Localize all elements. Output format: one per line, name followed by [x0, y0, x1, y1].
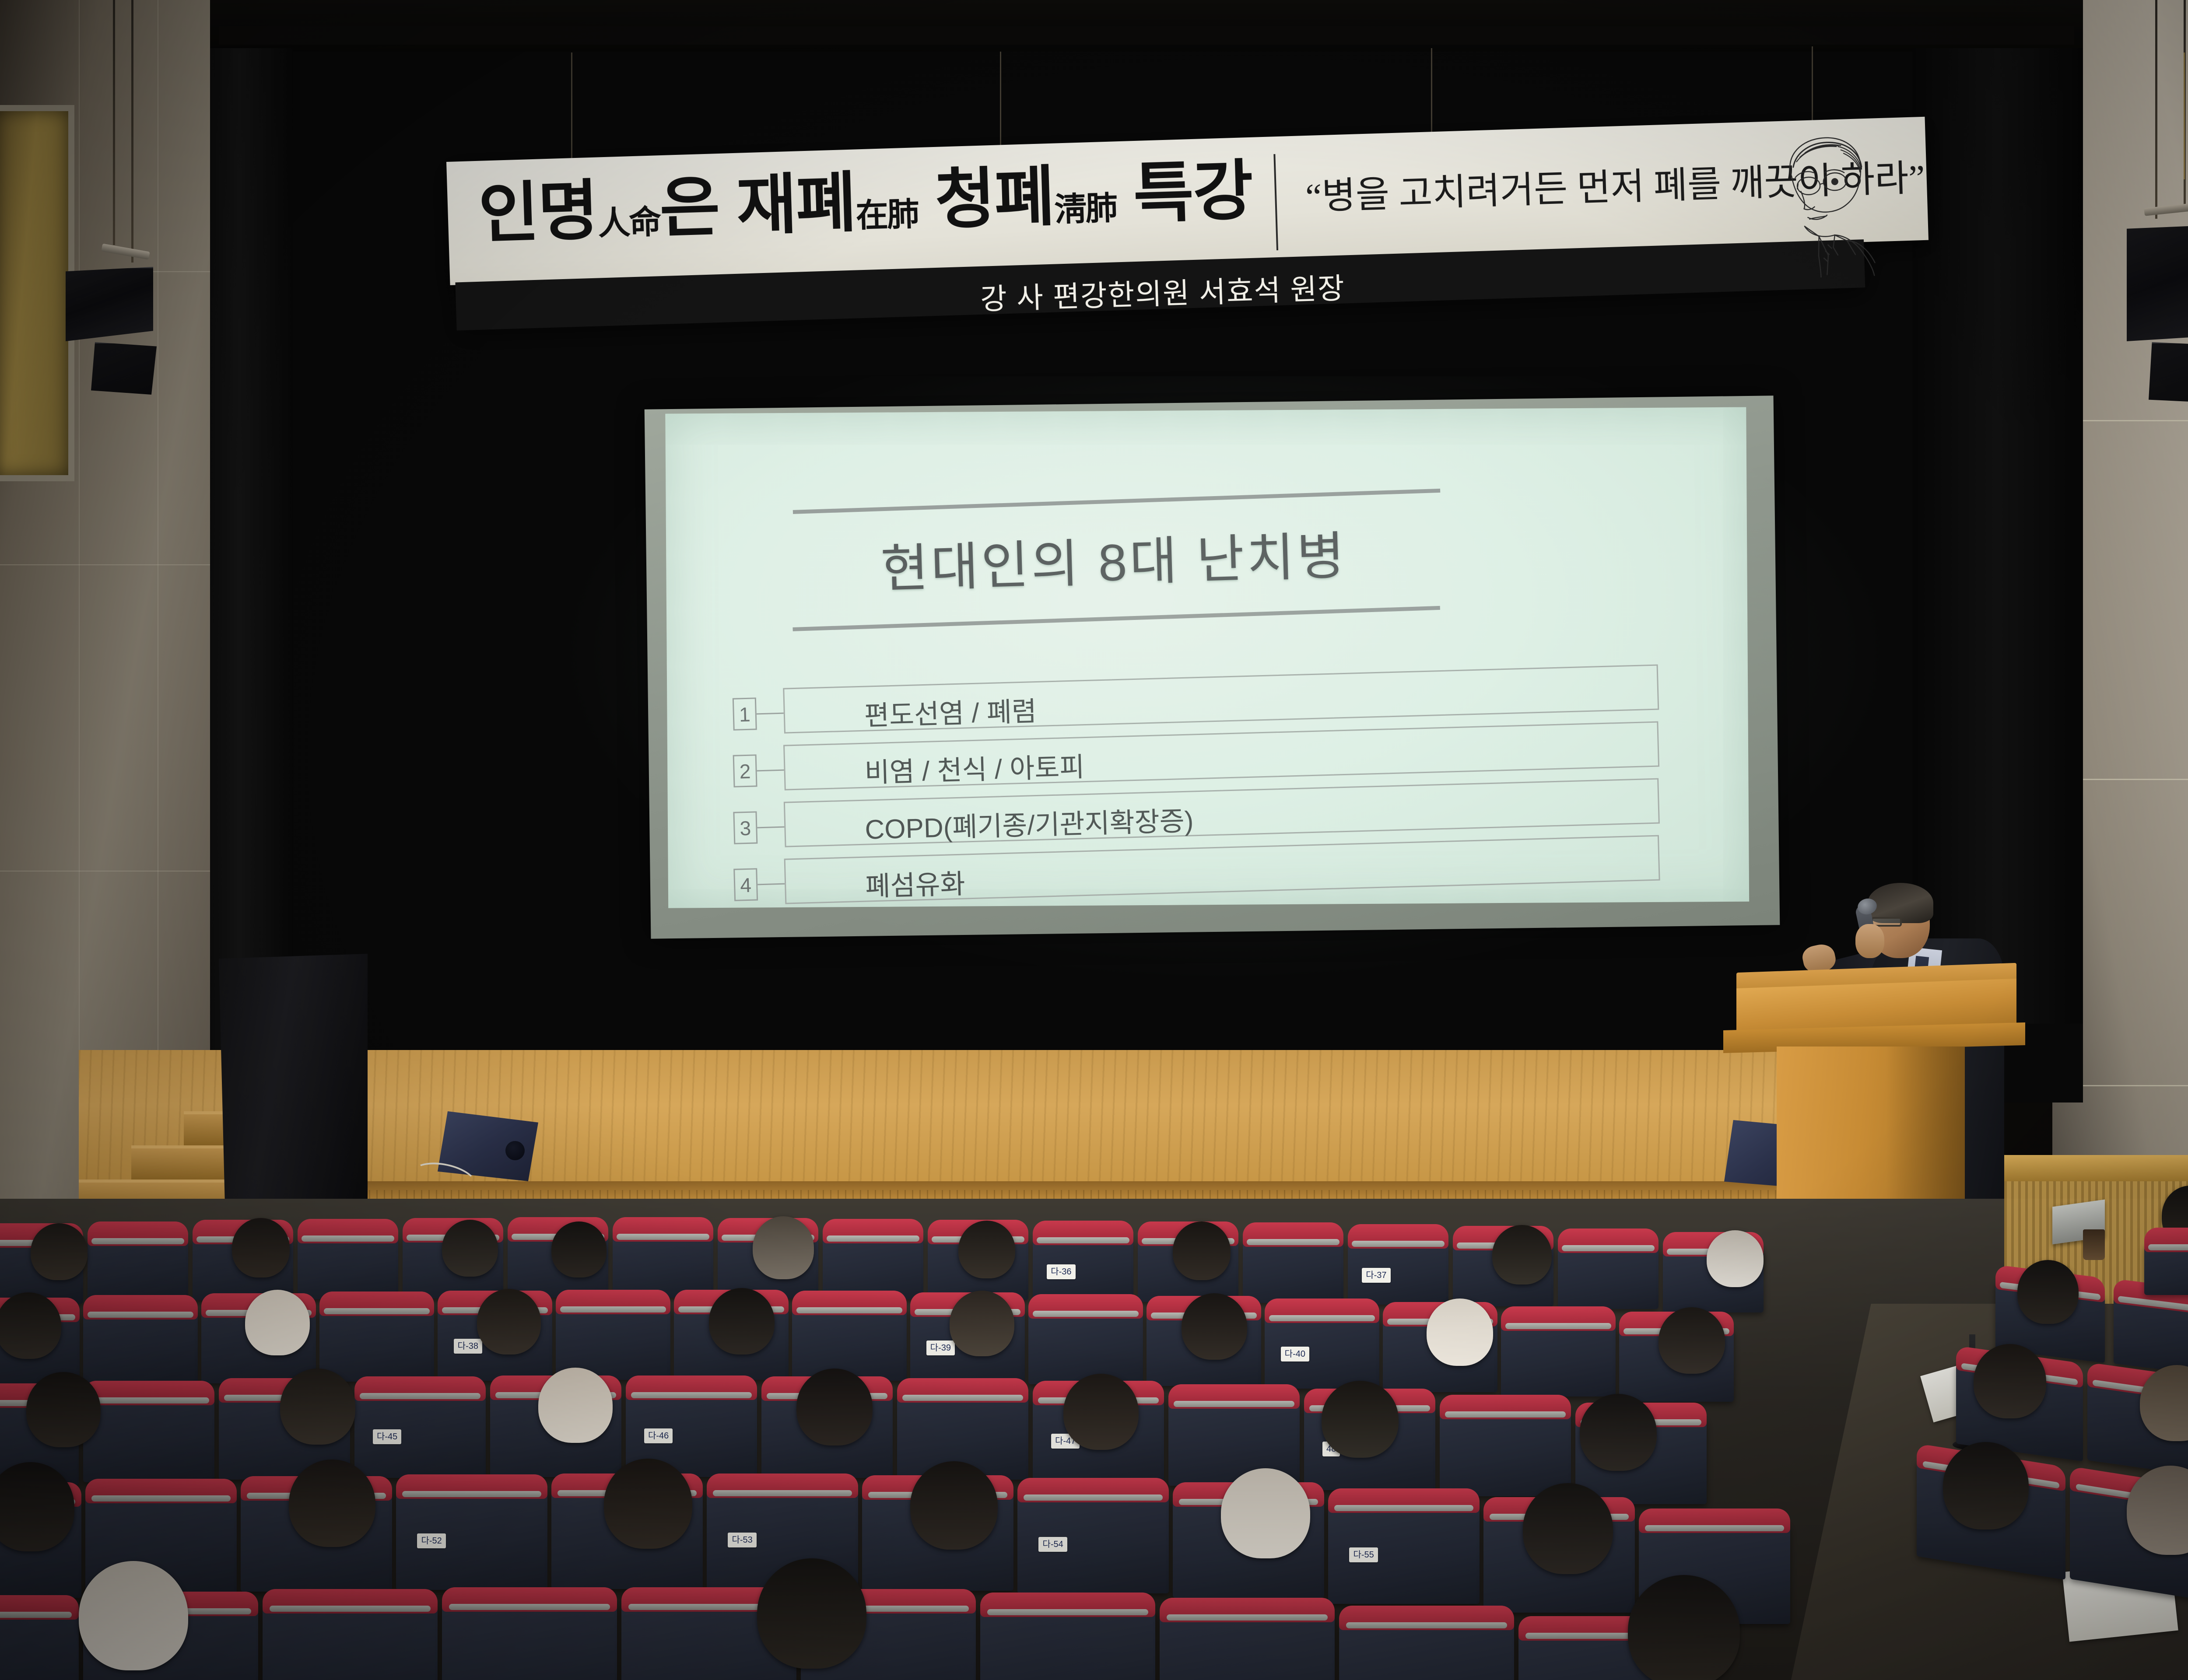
audience-head — [1659, 1307, 1725, 1374]
audience-head — [1182, 1293, 1247, 1360]
seat[interactable]: 다-40 — [1265, 1313, 1379, 1389]
slide-item-connector — [757, 826, 784, 829]
slide-item-list: 1 편도선염 / 폐렴 2 비염 / 천식 / 아토피 3 COPD(폐기종/기… — [733, 673, 1697, 906]
audience-head — [910, 1461, 998, 1550]
seat[interactable] — [1160, 1613, 1335, 1680]
stage-tower-speaker — [219, 954, 368, 1199]
hanging-speaker-right — [2127, 224, 2188, 341]
lecturer-portrait-drawing — [1750, 122, 1912, 280]
banner-title-hanja-2: 在肺 — [856, 196, 919, 234]
audience-head — [538, 1368, 613, 1443]
audience-head — [1492, 1225, 1552, 1284]
seat[interactable] — [83, 1396, 214, 1482]
audience-head — [1173, 1221, 1231, 1280]
seat[interactable] — [792, 1305, 907, 1381]
seat-number-tag: 다-38 — [454, 1339, 482, 1354]
slide-item-connector — [757, 713, 784, 715]
audience-head — [26, 1372, 101, 1447]
audience-head — [551, 1221, 607, 1277]
seat-number-tag: 다-53 — [728, 1533, 756, 1547]
audience-head — [245, 1290, 310, 1355]
projection-screen: 현대인의 8대 난치병 1 편도선염 / 폐렴 2 비염 / 천식 / 아토피 … — [645, 395, 1780, 938]
seat-number-tag: 다-52 — [417, 1533, 445, 1548]
seat-number-tag: 다-36 — [1047, 1264, 1075, 1279]
audience-head — [1943, 1442, 2029, 1529]
seat[interactable] — [613, 1232, 713, 1298]
seat-number-tag: 다-37 — [1362, 1268, 1390, 1283]
hanging-speaker-left — [66, 267, 153, 341]
audience-head — [753, 1216, 814, 1279]
audience-head — [1628, 1575, 1740, 1680]
seat[interactable] — [1339, 1620, 1514, 1680]
audience-head — [1974, 1344, 2046, 1418]
audience-head — [477, 1289, 541, 1354]
audience-head — [1221, 1468, 1310, 1558]
audience-head — [31, 1223, 88, 1280]
banner-title-seg-3: 재폐 — [718, 166, 857, 243]
audience-head — [442, 1220, 498, 1277]
slide-title: 현대인의 8대 난치병 — [880, 514, 1348, 602]
hanging-speaker-left-sub — [91, 342, 157, 395]
audience-seating: 다-36 다-37 다-38 다-39 다-40 — [0, 1181, 2188, 1680]
banner-title-seg-4: 청폐 — [916, 160, 1055, 237]
audience-head — [1063, 1374, 1139, 1450]
audience-head — [2017, 1260, 2079, 1324]
seat[interactable] — [298, 1234, 398, 1299]
slide-item-number: 1 — [733, 697, 757, 730]
slide-item-text: 폐섬유화 — [865, 862, 966, 904]
seat[interactable] — [1243, 1237, 1343, 1303]
seat[interactable] — [88, 1236, 188, 1302]
stage-curtain-right — [1912, 48, 2083, 1024]
slide-item-text: COPD(폐기종/기관지확장증) — [864, 798, 1194, 847]
seat-number-tag: 다-39 — [926, 1340, 955, 1355]
seat[interactable]: 다-54 — [1017, 1493, 1169, 1593]
banner-title-seg-1: 인명 — [477, 174, 599, 251]
banner-title-seg-2: 은 — [659, 170, 720, 245]
seat[interactable]: 다-55 — [1328, 1503, 1480, 1604]
banner-title-hanja-1: 人命 — [597, 203, 660, 241]
left-wood-panel — [0, 105, 74, 481]
staff-chair[interactable] — [2144, 1242, 2188, 1295]
slide-item-text: 비염 / 천식 / 아토피 — [864, 745, 1085, 790]
audience-head — [604, 1459, 692, 1549]
seat[interactable] — [1558, 1243, 1659, 1309]
seat[interactable] — [823, 1234, 923, 1299]
audience-head — [1322, 1381, 1399, 1458]
seat[interactable] — [83, 1310, 198, 1385]
banner-title-seg-5: 특강 — [1115, 154, 1254, 231]
stage-curtain-left — [210, 48, 293, 1063]
audience-head — [1523, 1483, 1613, 1574]
audience-head — [0, 1292, 61, 1359]
seat[interactable] — [1501, 1321, 1616, 1396]
right-side-rail — [2004, 1155, 2188, 1181]
slide-rule-bottom — [792, 606, 1440, 631]
seat[interactable] — [1028, 1309, 1143, 1384]
audience-head — [1707, 1230, 1764, 1287]
audience-head — [232, 1218, 290, 1277]
seat[interactable] — [980, 1607, 1155, 1680]
seat[interactable]: 다-45 — [354, 1391, 486, 1478]
seat-number-tag: 다-46 — [644, 1428, 673, 1443]
slide-item-text: 편도선염 / 폐렴 — [864, 689, 1037, 733]
seat-number-tag: 다-40 — [1281, 1347, 1309, 1361]
seat[interactable] — [2114, 1294, 2188, 1377]
seat[interactable]: 다-52 — [396, 1489, 547, 1590]
banner-title-hanja-3: 淸肺 — [1054, 189, 1117, 227]
slide-rule-top — [793, 489, 1440, 514]
audience-head — [79, 1561, 188, 1670]
audience-head — [280, 1368, 355, 1445]
seat-number-tag: 다-55 — [1349, 1547, 1378, 1562]
audience-head — [1427, 1298, 1493, 1366]
slide-item-connector — [757, 883, 785, 885]
audience-head — [709, 1288, 775, 1354]
seat[interactable]: 다-37 — [1348, 1239, 1448, 1305]
audience-head — [757, 1558, 866, 1669]
auditorium-scene: 인명人命은 재폐在肺 청폐淸肺 특강 “병을 고치려거든 먼저 폐를 깨끗이 하… — [0, 0, 2188, 1680]
seat[interactable] — [1440, 1410, 1571, 1496]
seat-number-tag: 다-54 — [1038, 1537, 1067, 1552]
audience-head — [950, 1291, 1014, 1356]
slide-item-number: 2 — [733, 754, 757, 787]
audience-head — [958, 1221, 1015, 1278]
seat[interactable] — [263, 1604, 438, 1680]
seat-number-tag: 다-45 — [373, 1429, 401, 1444]
presentation-slide: 현대인의 8대 난치병 1 편도선염 / 폐렴 2 비염 / 천식 / 아토피 … — [665, 407, 1749, 908]
presenter-hand-holding-mic — [1855, 924, 1884, 958]
seat[interactable]: 다-36 — [1033, 1235, 1133, 1301]
audience-head — [796, 1368, 873, 1445]
seat[interactable] — [442, 1602, 617, 1680]
audience-head — [289, 1459, 375, 1547]
seat[interactable] — [0, 1610, 79, 1680]
seat[interactable] — [319, 1306, 434, 1382]
slide-item-number: 4 — [733, 868, 758, 901]
slide-item-connector — [757, 770, 784, 772]
hanging-speaker-right-sub — [2149, 342, 2188, 403]
slide-item-number: 3 — [733, 811, 757, 844]
audience-head — [1580, 1394, 1657, 1471]
